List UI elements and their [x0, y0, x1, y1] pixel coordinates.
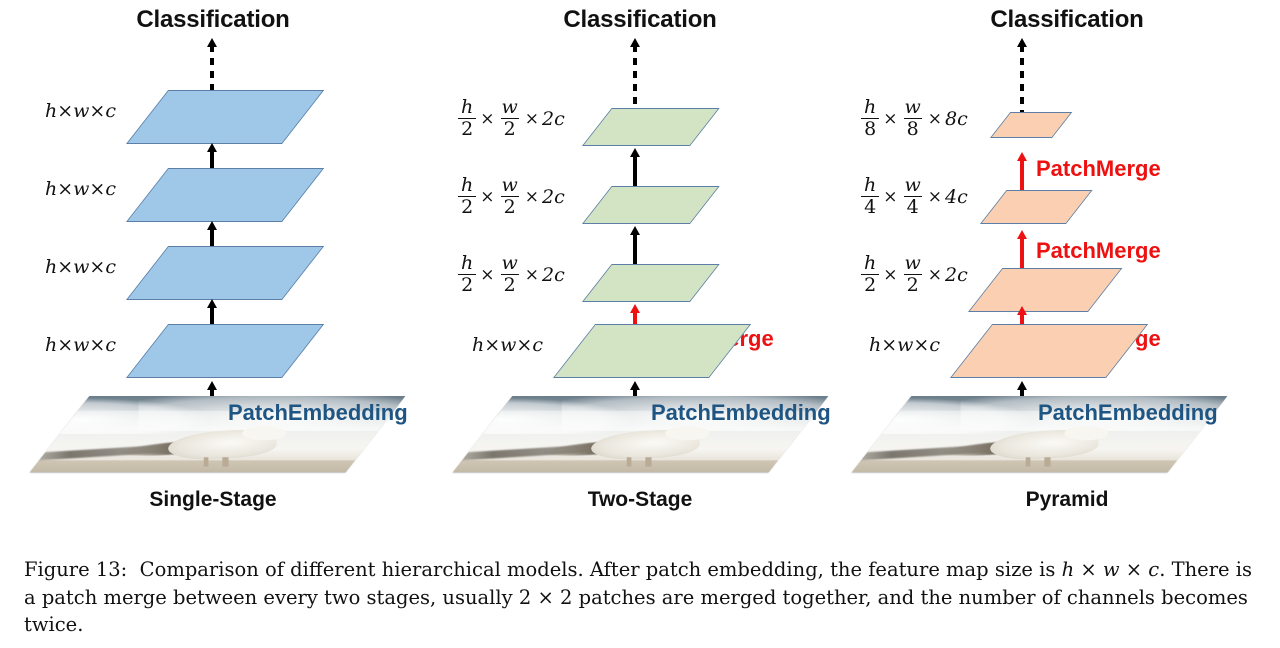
plane-dim-label: h×w×c [864, 334, 940, 356]
feature-plane [990, 112, 1072, 138]
fraction-w: w 2 [902, 254, 924, 296]
fraction-h: h 2 [458, 254, 476, 296]
plane-dim-label: h 2 × w 2 × 2c [457, 176, 565, 218]
times-symbol: × [480, 187, 494, 207]
gull-leg [223, 458, 228, 467]
patch-embedding-label: PatchEmbedding [228, 400, 408, 426]
column-title-classification: Classification [427, 6, 853, 34]
patch-embedding-label: PatchEmbedding [651, 400, 831, 426]
times-symbol: × [525, 109, 539, 129]
plane-dim-label: h 4 × w 4 × 4c [860, 176, 968, 218]
caption-math-hwc: h × w × c [1062, 558, 1160, 581]
figure-caption: Figure 13: Comparison of different hiera… [24, 556, 1262, 639]
column-footer-label: Pyramid [854, 488, 1280, 512]
feature-plane [980, 190, 1093, 224]
column-pyramid: Classification h 8 × w 8 × 8c PatchMerge [854, 0, 1280, 530]
fraction-w: w 2 [499, 176, 521, 218]
gull-leg [646, 458, 651, 467]
gull-leg [626, 458, 631, 467]
column-single-stage: Classification h×w×c h×w×c h×w×c h× [0, 0, 426, 530]
times-symbol: × [928, 187, 942, 207]
times-symbol: × [883, 109, 897, 129]
plane-dim-label: h 2 × w 2 × 2c [860, 254, 968, 296]
plane-dim-label: h×w×c [40, 100, 116, 122]
gull-head [242, 427, 286, 440]
channel-term: 2c [542, 108, 565, 130]
image-sand [453, 460, 828, 472]
feature-plane [553, 324, 751, 378]
channel-term: 2c [542, 264, 565, 286]
fraction-w: w 2 [499, 254, 521, 296]
fraction-w: w 4 [902, 176, 924, 218]
times-symbol: × [928, 265, 942, 285]
plane-dim-label: h×w×c [467, 334, 543, 356]
plane-dim-label: h 2 × w 2 × 2c [457, 254, 565, 296]
caption-number: Figure 13: [24, 558, 127, 581]
times-symbol: × [928, 109, 942, 129]
patch-merge-label: PatchMerge [1036, 156, 1161, 182]
feature-plane [582, 186, 720, 224]
caption-part1: Comparison of different hierarchical mod… [140, 558, 1062, 581]
feature-plane [968, 268, 1122, 312]
times-symbol: × [525, 265, 539, 285]
channel-term: 8c [945, 108, 968, 130]
plane-dim-label: h×w×c [40, 178, 116, 200]
fraction-w: w 2 [499, 98, 521, 140]
gull-leg [203, 458, 208, 467]
figure-canvas: Classification h×w×c h×w×c h×w×c h× [0, 0, 1280, 648]
caption-math-2x2: 2 × 2 [519, 586, 573, 609]
image-sand [852, 460, 1227, 472]
arrow-shaft [633, 155, 636, 188]
column-title-classification: Classification [854, 6, 1280, 34]
channel-term: 2c [945, 264, 968, 286]
times-symbol: × [883, 265, 897, 285]
feature-plane [126, 90, 324, 144]
feature-plane [126, 324, 324, 378]
column-footer-label: Two-Stage [427, 488, 853, 512]
fraction-h: h 2 [861, 254, 879, 296]
plane-dim-label: h 2 × w 2 × 2c [457, 98, 565, 140]
fraction-h: h 4 [861, 176, 879, 218]
channel-term: 2c [542, 186, 565, 208]
times-symbol: × [883, 187, 897, 207]
channel-term: 4c [945, 186, 968, 208]
gull-head [1064, 427, 1108, 440]
column-footer-label: Single-Stage [0, 488, 426, 512]
feature-plane [126, 168, 324, 222]
times-symbol: × [480, 265, 494, 285]
times-symbol: × [480, 109, 494, 129]
patch-embedding-label: PatchEmbedding [1038, 400, 1218, 426]
fraction-h: h 2 [458, 176, 476, 218]
gull-leg [1025, 458, 1030, 467]
feature-plane [126, 246, 324, 300]
fraction-w: w 8 [902, 98, 924, 140]
plane-dim-label: h 8 × w 8 × 8c [860, 98, 968, 140]
fraction-h: h 8 [861, 98, 879, 140]
column-title-classification: Classification [0, 6, 426, 34]
arrow-shaft [633, 233, 636, 266]
feature-plane [582, 264, 720, 302]
image-sand [30, 460, 405, 472]
feature-plane [582, 108, 720, 146]
gull-head [665, 427, 709, 440]
feature-plane [950, 324, 1148, 378]
gull-leg [1045, 458, 1050, 467]
times-symbol: × [525, 187, 539, 207]
plane-dim-label: h×w×c [40, 334, 116, 356]
fraction-h: h 2 [458, 98, 476, 140]
column-two-stage: Classification h 2 × w 2 × 2c [427, 0, 853, 530]
patch-merge-label: PatchMerge [1036, 238, 1161, 264]
plane-dim-label: h×w×c [40, 256, 116, 278]
